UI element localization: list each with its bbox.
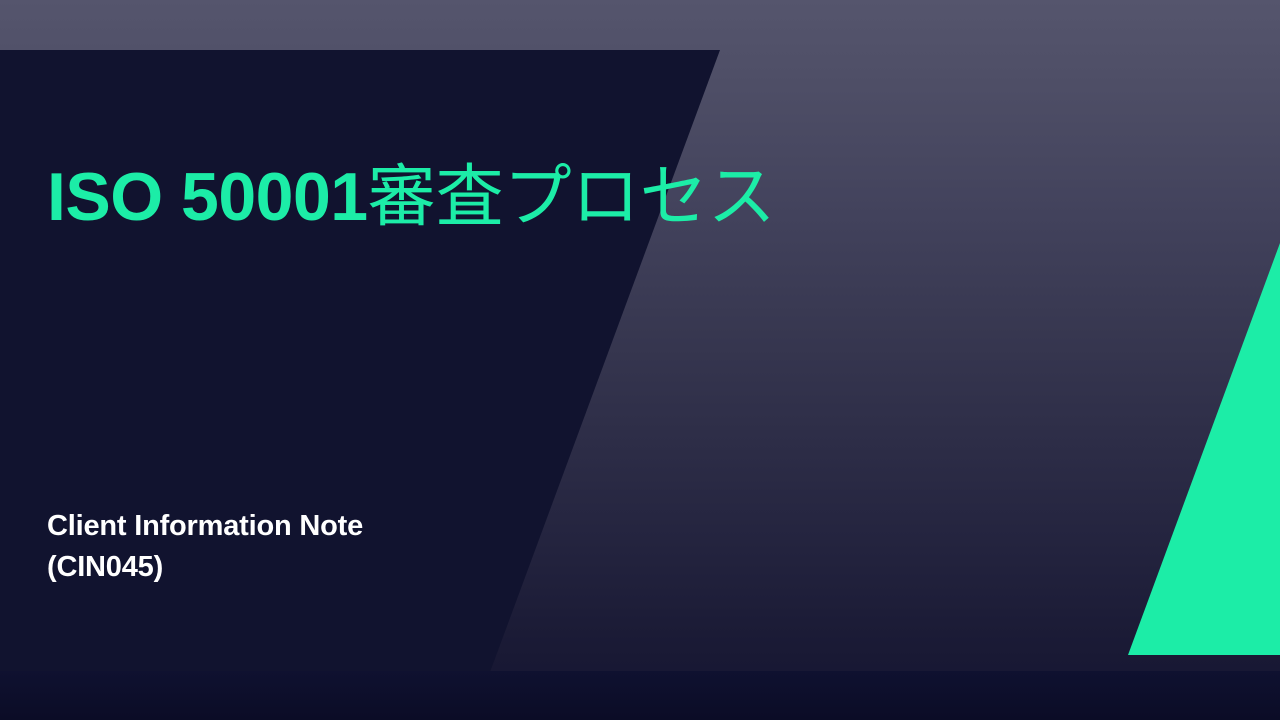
page-title: ISO 50001審査プロセス (47, 163, 747, 231)
page-subtitle-line-1: Client Information Note (47, 506, 647, 547)
page-subtitle-line-2: (CIN045) (47, 547, 647, 588)
bottom-dark-band (0, 671, 1280, 720)
title-slide: ISO 50001審査プロセス Client Information Note … (0, 0, 1280, 720)
page-title-japanese: 審査プロセス (368, 159, 776, 235)
decorative-shapes (0, 0, 1280, 720)
page-title-latin: ISO 50001 (47, 159, 368, 235)
teal-triangle (1128, 243, 1280, 655)
page-subtitle: Client Information Note (CIN045) (47, 506, 647, 588)
